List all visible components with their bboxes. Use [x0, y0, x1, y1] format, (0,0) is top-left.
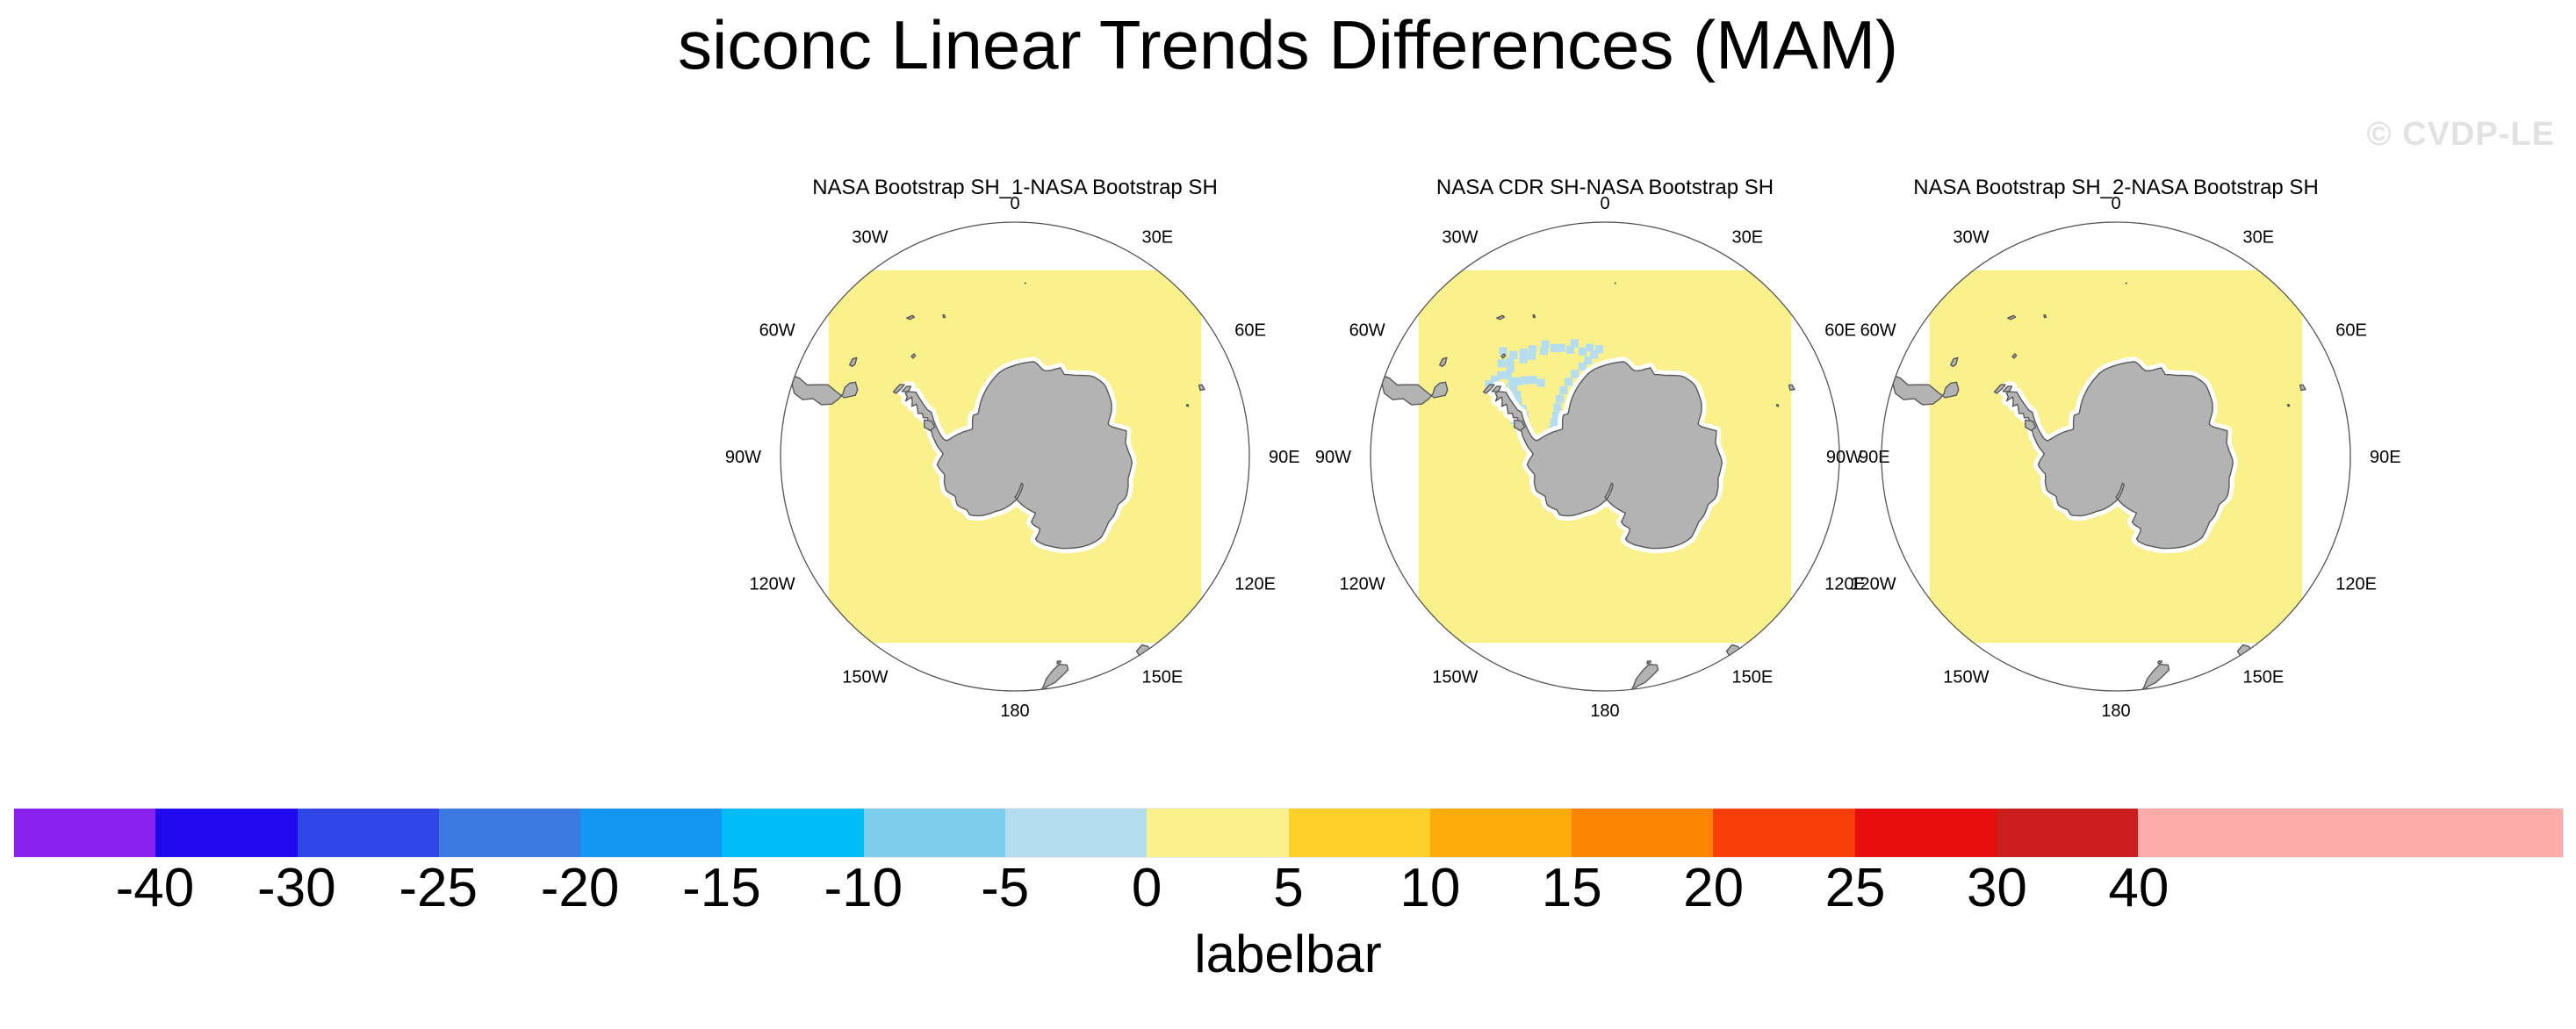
landmass [2300, 385, 2306, 390]
longitude-label: 150E [2243, 667, 2285, 687]
longitude-label: 120E [1234, 575, 1276, 594]
longitude-label: 60W [759, 321, 795, 341]
landmass [1025, 283, 1025, 284]
landmass [2044, 315, 2047, 318]
longitude-label: 150W [1943, 667, 1989, 687]
colorbar-tick: -30 [257, 858, 336, 919]
colorbar-band [298, 809, 439, 857]
landmass [943, 315, 946, 318]
data-cell-negative [1536, 378, 1544, 386]
colorbar-tick: -40 [116, 858, 195, 919]
longitude-label: 30E [1732, 228, 1764, 248]
longitude-label: 150E [1732, 667, 1774, 687]
landmass [1776, 405, 1778, 407]
longitude-label: 0 [2111, 194, 2120, 213]
colorbar-tick: 10 [1400, 858, 1460, 919]
longitude-label: 90W [725, 448, 761, 467]
colorbar-band [1713, 809, 1854, 857]
data-cell-negative [1565, 378, 1572, 385]
data-cell-negative [1509, 351, 1517, 359]
map-panel-3[interactable]: NASA Bootstrap SH_2-NASA Bootstrap SH 03… [1835, 176, 2397, 738]
landmass [1533, 315, 1536, 318]
colorbar-band [2280, 809, 2421, 857]
colorbar-band [1997, 809, 2138, 857]
longitude-label: 150E [1142, 667, 1184, 687]
colorbar-band [722, 809, 863, 857]
data-cell-negative [1542, 341, 1550, 349]
longitude-label: 0 [1600, 194, 1609, 213]
landmass [1615, 283, 1615, 284]
cvdp-watermark: © CVDP-LE [2367, 116, 2555, 154]
longitude-label: 30W [1953, 228, 1989, 248]
longitude-label: 150W [842, 667, 888, 687]
colorbar-band [1147, 809, 1288, 857]
colorbar-tick: 20 [1683, 858, 1744, 919]
colorbar-tick: -5 [981, 858, 1029, 919]
data-cell-negative [1529, 345, 1536, 353]
landmass [1199, 385, 1205, 390]
longitude-label: 30W [1442, 228, 1478, 248]
colorbar-band [864, 809, 1005, 857]
colorbar-tick: 30 [1967, 858, 2027, 919]
longitude-label: 120W [1339, 575, 1385, 594]
colorbar-band [14, 809, 155, 857]
longitude-label: 180 [1590, 702, 1619, 721]
landmass [1789, 385, 1795, 390]
data-cell-negative [1595, 345, 1603, 353]
data-cell-negative [1579, 348, 1587, 356]
longitude-label: 30W [852, 228, 888, 248]
data-cell-negative [1556, 395, 1564, 403]
longitude-label: 90W [1826, 448, 1862, 467]
longitude-label: 120E [2335, 575, 2377, 594]
data-cell-negative [1579, 363, 1587, 371]
longitude-label: 90W [1315, 448, 1351, 467]
longitude-label: 30E [1142, 228, 1174, 248]
colorbar-tick-labels: -40-30-25-20-15-10-505101520253040 [13, 858, 2564, 919]
colorbar-band [1855, 809, 1997, 857]
map-panel-2[interactable]: NASA CDR SH-NASA Bootstrap SH 030E60E90E… [1324, 176, 1886, 738]
colorbar-tick: -15 [682, 858, 761, 919]
longitude-label: 60E [2335, 321, 2367, 341]
colorbar-tick: -10 [824, 858, 903, 919]
data-cell-negative [1571, 370, 1579, 378]
landmass [2126, 283, 2126, 284]
colorbar-band [439, 809, 580, 857]
colorbar-tick: 5 [1273, 858, 1303, 919]
data-cell-negative [1559, 386, 1567, 394]
polar-map-1[interactable]: 030E60E90E120E150E180150W120W90W60W30W [734, 202, 1296, 738]
colorbar-band [580, 809, 722, 857]
landmass [1647, 661, 1651, 664]
colorbar-tick: -25 [399, 858, 478, 919]
longitude-label: 90E [1269, 448, 1300, 467]
data-cell-negative [1571, 339, 1579, 347]
colorbar[interactable] [13, 808, 2564, 858]
colorbar-tick: 40 [2108, 858, 2169, 919]
colorbar-band [1430, 809, 1572, 857]
longitude-label: 30E [2243, 228, 2275, 248]
longitude-label: 60W [1860, 321, 1896, 341]
landmass [1186, 405, 1188, 407]
data-cell-negative [1553, 403, 1561, 411]
landmass [2158, 661, 2162, 664]
colorbar-tick: 25 [1825, 858, 1886, 919]
longitude-label: 180 [1000, 702, 1029, 721]
longitude-label: 60W [1349, 321, 1385, 341]
longitude-label: 180 [2101, 702, 2130, 721]
colorbar-band [1005, 809, 1147, 857]
colorbar-tick: 0 [1132, 858, 1162, 919]
colorbar-tick: 15 [1542, 858, 1602, 919]
colorbar-band [2421, 809, 2563, 857]
longitude-label: 0 [1010, 194, 1019, 213]
data-cell-negative [1498, 359, 1506, 367]
longitude-label: 90E [2370, 448, 2401, 467]
landmass [2287, 405, 2289, 407]
colorbar-caption: labelbar [0, 924, 2576, 984]
longitude-label: 60E [1234, 321, 1266, 341]
colorbar-band [2138, 809, 2279, 857]
data-cell-negative [1515, 378, 1522, 385]
colorbar-band [1289, 809, 1430, 857]
polar-map-2[interactable]: 030E60E90E120E150E180150W120W90W60W30W [1324, 202, 1886, 738]
data-cell-negative [1520, 349, 1528, 356]
map-panel-1[interactable]: NASA Bootstrap SH_1-NASA Bootstrap SH 03… [734, 176, 1296, 738]
longitude-label: 120W [1850, 575, 1896, 594]
landmass [1057, 661, 1061, 664]
data-cell-negative [1529, 376, 1537, 384]
longitude-label: 120W [749, 575, 795, 594]
data-cell-negative [1557, 344, 1565, 352]
data-cell-negative [1522, 377, 1529, 385]
colorbar-band [155, 809, 297, 857]
polar-map-3[interactable]: 030E60E90E120E150E180150W120W90W60W30W [1835, 202, 2397, 738]
colorbar-band [1572, 809, 1713, 857]
colorbar-tick: -20 [541, 858, 620, 919]
longitude-label: 150W [1432, 667, 1478, 687]
page-title: siconc Linear Trends Differences (MAM) [0, 5, 2576, 85]
